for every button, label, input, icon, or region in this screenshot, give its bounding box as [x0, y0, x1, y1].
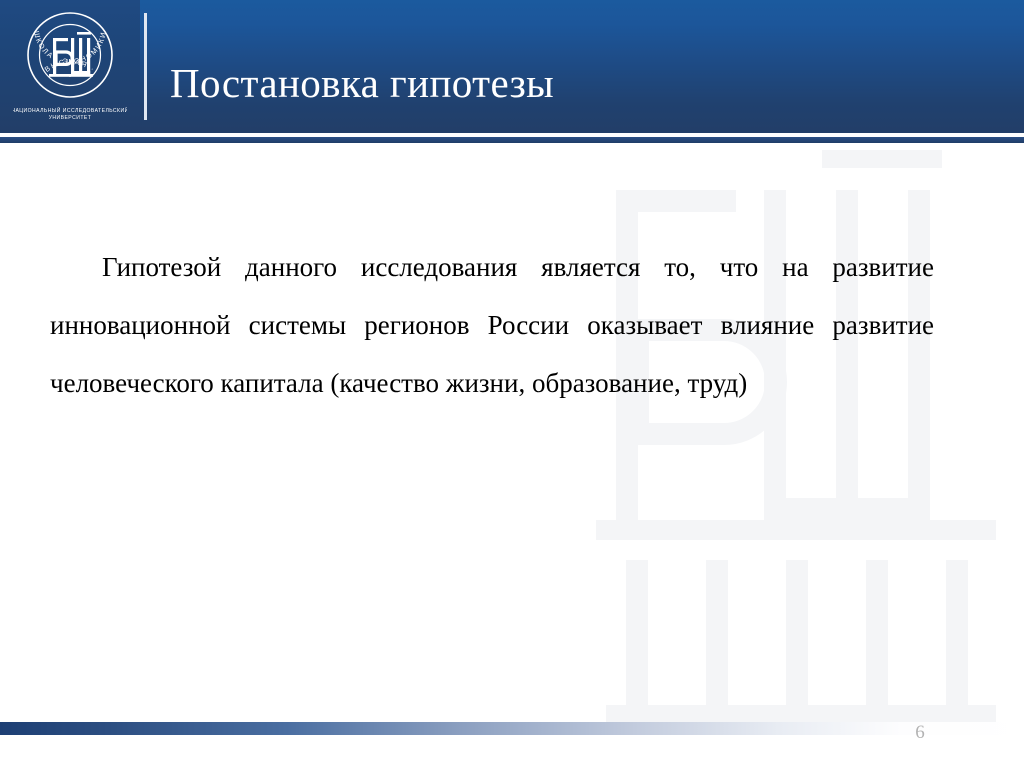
hse-logo: ШКОЛА · ЭКОНОМИКИ ВЫСШАЯ ·: [13, 8, 127, 124]
footer-accent-bar: [0, 722, 1024, 735]
svg-text:НАЦИОНАЛЬНЫЙ ИССЛЕДОВАТЕЛЬСКИЙ: НАЦИОНАЛЬНЫЙ ИССЛЕДОВАТЕЛЬСКИЙ: [13, 106, 127, 114]
page-number: 6: [900, 721, 940, 745]
header-vertical-divider: [144, 13, 147, 120]
slide: ШКОЛА · ЭКОНОМИКИ ВЫСШАЯ ·: [0, 0, 1024, 767]
page-title: Постановка гипотезы: [170, 57, 990, 109]
hypothesis-paragraph: Гипотезой данного исследования является …: [50, 238, 934, 412]
header-blue-rule: [0, 137, 1024, 143]
body-text-block: Гипотезой данного исследования является …: [50, 238, 934, 412]
svg-text:УНИВЕРСИТЕТ: УНИВЕРСИТЕТ: [49, 115, 92, 121]
